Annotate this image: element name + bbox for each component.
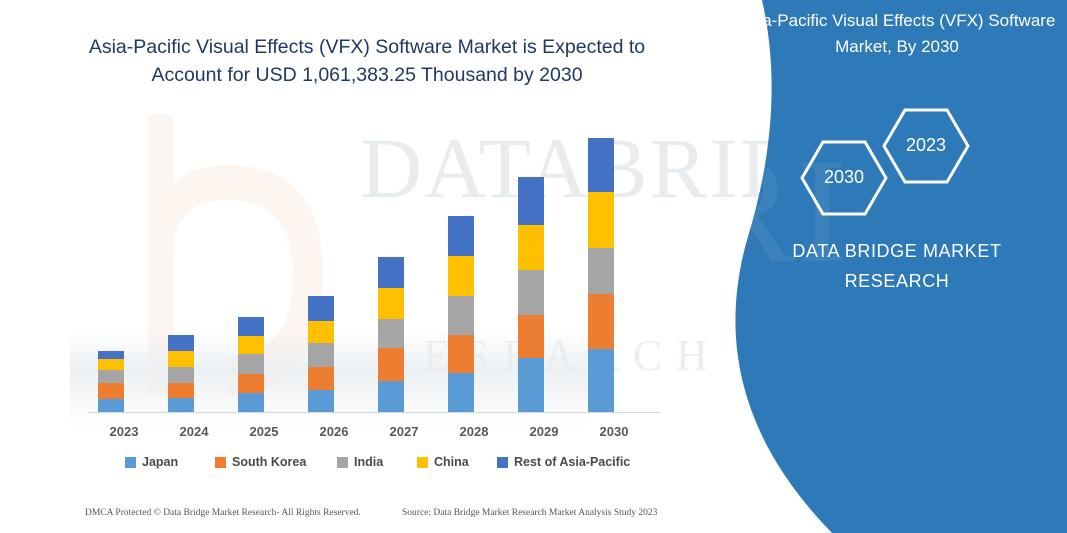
legend-swatch-icon [125,457,136,468]
bar-segment [308,390,334,412]
brand-panel: RI Asia-Pacific Visual Effects (VFX) Sof… [687,0,1067,533]
bar-segment [168,335,194,351]
bar-segment [518,177,544,225]
bar-segment [308,367,334,390]
bar-segment [238,354,264,374]
legend-label: Rest of Asia-Pacific [514,455,630,469]
hexagon-group: 2030 2023 [785,105,1015,220]
bar-segment [308,296,334,321]
bar-segment [518,315,544,358]
legend-swatch-icon [497,457,508,468]
bar-segment [98,351,124,359]
bar-segment [308,343,334,367]
x-axis-label-2025: 2025 [229,424,299,439]
bar-segment [448,335,474,373]
bar-segment [588,349,614,412]
bar-segment [378,288,404,319]
bar-segment [98,359,124,370]
brand-name: DATA BRIDGE MARKET RESEARCH [727,236,1067,296]
legend-label: South Korea [232,455,306,469]
legend-item-china[interactable]: China [417,455,469,469]
hexagon-2023-label: 2023 [891,135,961,156]
legend-label: China [434,455,469,469]
legend-swatch-icon [417,457,428,468]
chart-plot-area [80,100,680,420]
bar-segment [378,348,404,381]
x-axis-label-2030: 2030 [579,424,649,439]
bar-segment [168,351,194,367]
brand-line-1: DATA BRIDGE MARKET [727,236,1067,266]
bar-2029 [518,177,544,412]
bar-2024 [168,335,194,412]
legend-item-south-korea[interactable]: South Korea [215,455,306,469]
legend-swatch-icon [215,457,226,468]
bar-segment [238,393,264,412]
panel-watermark: RI [695,125,849,297]
hexagon-2023-shape [884,110,968,182]
bar-segment [518,358,544,412]
x-axis-labels: 20232024202520262027202820292030 [80,424,680,446]
bar-segment [238,374,264,393]
hexagon-2030-label: 2030 [809,167,879,188]
bar-segment [448,296,474,335]
legend-label: Japan [142,455,178,469]
bar-segment [588,294,614,349]
bar-segment [588,192,614,248]
x-axis-line [88,412,660,413]
bar-segment [588,138,614,192]
bar-segment [448,256,474,296]
bar-segment [98,399,124,412]
bar-segment [588,248,614,294]
x-axis-label-2023: 2023 [89,424,159,439]
bar-segment [98,370,124,383]
x-axis-label-2028: 2028 [439,424,509,439]
infographic-canvas: DATABRIDGE RESEARCH Asia-Pacific Visual … [0,0,1067,533]
bar-segment [168,398,194,412]
bar-segment [448,373,474,412]
brand-line-2: RESEARCH [727,266,1067,296]
bar-2023 [98,351,124,412]
panel-title: Asia-Pacific Visual Effects (VFX) Softwa… [727,8,1067,60]
bar-segment [238,336,264,354]
footer-source: Source: Data Bridge Market Research Mark… [402,508,657,518]
bar-segment [98,383,124,399]
bar-segment [168,367,194,383]
legend-item-rest-of-asia-pacific[interactable]: Rest of Asia-Pacific [497,455,630,469]
bar-segment [518,270,544,315]
bar-segment [518,225,544,270]
chart-title: Asia-Pacific Visual Effects (VFX) Softwa… [72,33,662,89]
x-axis-label-2024: 2024 [159,424,229,439]
bar-2027 [378,257,404,412]
legend-label: India [354,455,383,469]
bar-segment [378,319,404,348]
bar-2026 [308,296,334,412]
footer-copyright: DMCA Protected © Data Bridge Market Rese… [85,508,361,518]
legend-swatch-icon [337,457,348,468]
chart-legend: JapanSouth KoreaIndiaChinaRest of Asia-P… [80,455,680,477]
bar-segment [308,321,334,343]
bar-2025 [238,317,264,412]
legend-item-india[interactable]: India [337,455,383,469]
bar-2028 [448,216,474,412]
x-axis-label-2029: 2029 [509,424,579,439]
bar-2030 [588,138,614,412]
hexagon-2030-shape [802,142,886,214]
legend-item-japan[interactable]: Japan [125,455,178,469]
bar-segment [378,381,404,412]
x-axis-label-2026: 2026 [299,424,369,439]
x-axis-label-2027: 2027 [369,424,439,439]
bar-segment [168,383,194,398]
bar-segment [378,257,404,288]
bar-segment [448,216,474,256]
bar-segment [238,317,264,336]
